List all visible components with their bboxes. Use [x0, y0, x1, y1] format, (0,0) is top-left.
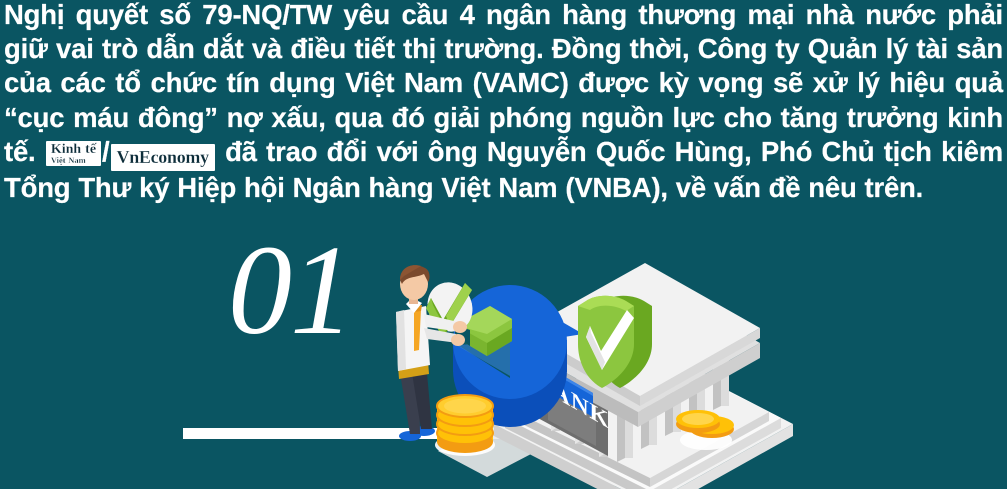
logo-separator: / [102, 136, 109, 167]
hero-illustration: 01 [0, 210, 1007, 489]
isometric-bank-scene: BANK [0, 210, 1007, 489]
article-intro-paragraph: Nghị quyết số 79-NQ/TW yêu cầu 4 ngân hà… [0, 0, 1007, 205]
coin-stack [435, 395, 495, 456]
kinhte-logo-line2: Việt Nam [51, 156, 96, 165]
article-hero-banner: Nghị quyết số 79-NQ/TW yêu cầu 4 ngân hà… [0, 0, 1007, 489]
vneconomy-logo[interactable]: VnEconomy [111, 144, 215, 171]
kinhte-vietnam-logo[interactable]: Kinh tếViệt Nam [46, 141, 101, 167]
